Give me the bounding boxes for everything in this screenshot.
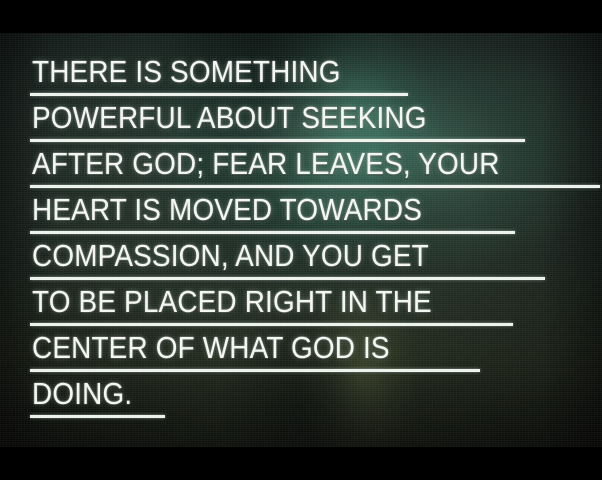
- letterbox-bar-bottom: [0, 447, 602, 480]
- quote-line-underline: [30, 139, 525, 142]
- quote-line-text: THERE IS SOMETHING: [32, 55, 341, 89]
- quote-line-text: DOING.: [32, 377, 132, 411]
- quote-line-text: HEART IS MOVED TOWARDS: [32, 193, 422, 227]
- quote-line-underline: [30, 231, 515, 234]
- quote-line-underline: [30, 369, 480, 372]
- quote-line-underline: [30, 415, 165, 418]
- quote-line-text: COMPASSION, AND YOU GET: [32, 239, 429, 273]
- quote-line-underline: [30, 93, 408, 96]
- quote-line-text: TO BE PLACED RIGHT IN THE: [32, 285, 432, 319]
- quote-image: THERE IS SOMETHINGPOWERFUL ABOUT SEEKING…: [0, 0, 602, 480]
- quote-line-underline: [30, 185, 600, 188]
- quote-line-underline: [30, 323, 513, 326]
- quote-text-block: THERE IS SOMETHINGPOWERFUL ABOUT SEEKING…: [0, 33, 602, 447]
- quote-line-text: POWERFUL ABOUT SEEKING: [32, 101, 427, 135]
- quote-line-text: CENTER OF WHAT GOD IS: [32, 331, 390, 365]
- letterbox-bar-top: [0, 0, 602, 33]
- quote-line-underline: [30, 277, 545, 280]
- quote-line-text: AFTER GOD; FEAR LEAVES, YOUR: [32, 147, 500, 181]
